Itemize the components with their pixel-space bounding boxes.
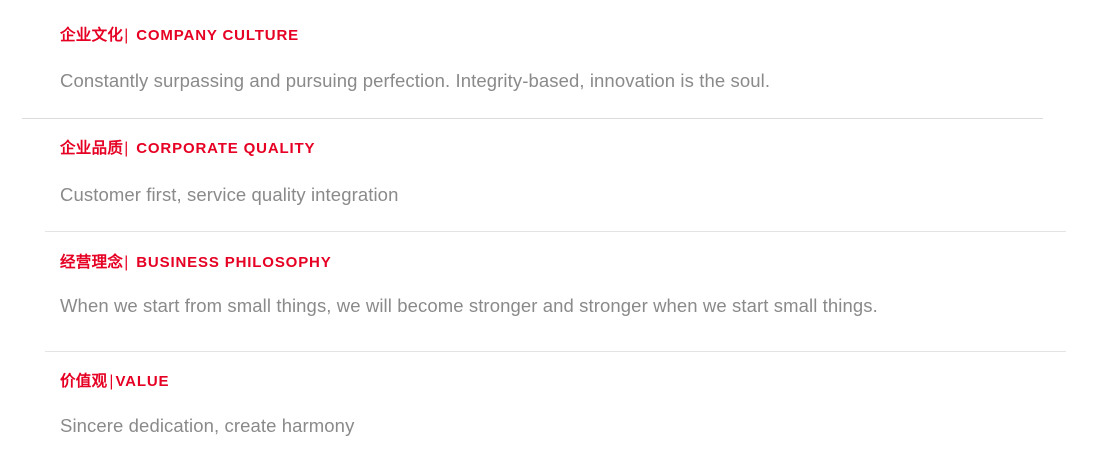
section-business-philosophy: 经营理念|BUSINESS PHILOSOPHY When we start f… [0, 253, 1100, 319]
heading-separator: | [123, 254, 129, 271]
section-inner: 经营理念|BUSINESS PHILOSOPHY When we start f… [0, 253, 1100, 319]
section-body: Sincere dedication, create harmony [60, 413, 1100, 439]
section-body: When we start from small things, we will… [60, 293, 1100, 319]
section-divider [45, 231, 1066, 232]
section-company-culture: 企业文化|COMPANY CULTURE Constantly surpassi… [0, 26, 1100, 94]
section-inner: 价值观|VALUE Sincere dedication, create har… [0, 372, 1100, 439]
section-inner: 企业品质|CORPORATE QUALITY Customer first, s… [0, 139, 1100, 208]
heading-chinese: 经营理念 [60, 254, 123, 271]
section-body: Customer first, service quality integrat… [60, 182, 1100, 208]
section-heading: 企业品质|CORPORATE QUALITY [60, 139, 1100, 159]
section-inner: 企业文化|COMPANY CULTURE Constantly surpassi… [0, 26, 1100, 94]
heading-english: CORPORATE QUALITY [136, 140, 315, 157]
heading-chinese: 价值观 [60, 373, 107, 390]
heading-separator: | [123, 27, 129, 44]
heading-separator: | [108, 373, 114, 390]
section-heading: 经营理念|BUSINESS PHILOSOPHY [60, 253, 1100, 273]
section-value: 价值观|VALUE Sincere dedication, create har… [0, 372, 1100, 439]
section-heading: 企业文化|COMPANY CULTURE [60, 26, 1100, 46]
heading-separator: | [123, 140, 129, 157]
section-divider [45, 351, 1066, 352]
company-values-page: 企业文化|COMPANY CULTURE Constantly surpassi… [0, 0, 1100, 449]
heading-english: BUSINESS PHILOSOPHY [136, 254, 331, 271]
section-body: Constantly surpassing and pursuing perfe… [60, 68, 1100, 94]
section-corporate-quality: 企业品质|CORPORATE QUALITY Customer first, s… [0, 139, 1100, 208]
heading-chinese: 企业品质 [60, 140, 123, 157]
heading-english: COMPANY CULTURE [136, 27, 299, 44]
heading-chinese: 企业文化 [60, 27, 123, 44]
section-divider [22, 118, 1043, 119]
section-heading: 价值观|VALUE [60, 372, 1100, 392]
heading-english: VALUE [115, 373, 169, 390]
